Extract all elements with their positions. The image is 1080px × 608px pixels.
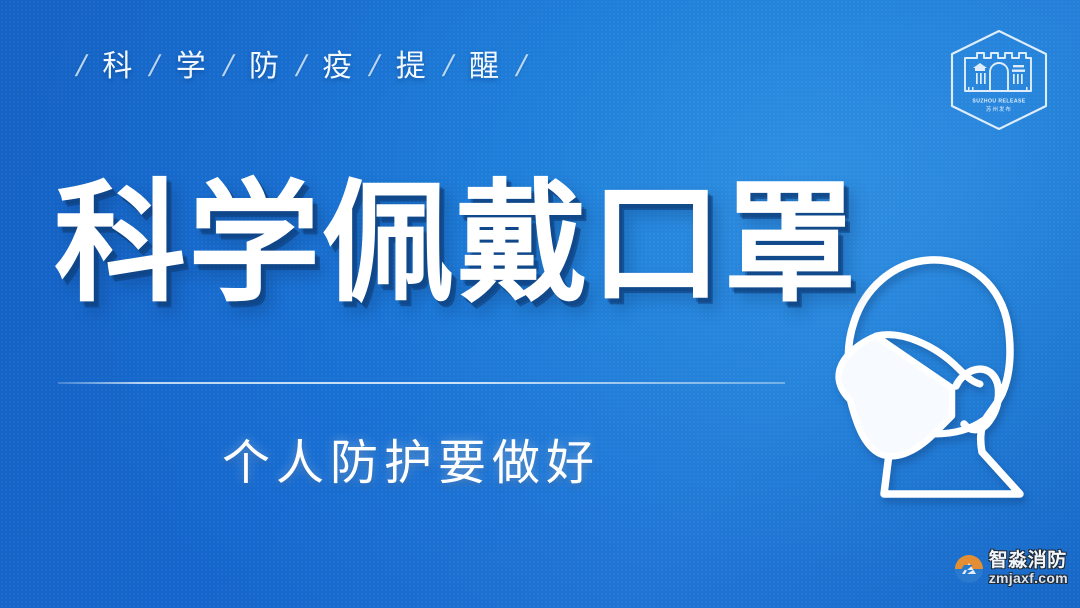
- subtitle: 个人防护要做好: [222, 440, 600, 488]
- kicker-separator-icon: /: [276, 52, 326, 82]
- brand-logo-latin-text: SUZHOU RELEASE: [972, 99, 1025, 105]
- poster-canvas: / 科 / 学 / 防 / 疫 / 提 / 醒 /: [0, 0, 1080, 608]
- divider: [58, 382, 785, 384]
- page-title: 科学佩戴口罩: [54, 178, 858, 310]
- kicker-separator-icon: /: [130, 52, 180, 82]
- zhimiao-fire-safety-logo: [954, 554, 984, 584]
- kicker-separator-icon: /: [350, 52, 400, 82]
- face-mask-path: [839, 336, 952, 456]
- kicker-tagline: / 科 / 学 / 防 / 疫 / 提 / 醒 /: [60, 52, 542, 82]
- kicker-char-3: 防: [249, 52, 280, 82]
- suzhou-release-hex-logo: SUZHOU RELEASE 苏州发布: [946, 28, 1052, 132]
- kicker-separator-icon: /: [496, 52, 546, 82]
- kicker-char-1: 科: [102, 52, 133, 82]
- kicker-separator-icon: /: [203, 52, 253, 82]
- kicker-separator-icon: /: [423, 52, 473, 82]
- watermark-text-block: 智淼消防 zmjaxf.com: [989, 551, 1068, 586]
- watermark-brand: 智淼消防: [989, 551, 1068, 571]
- kicker-separator-icon: /: [56, 52, 106, 82]
- kicker-char-4: 疫: [322, 52, 353, 82]
- brand-logo-chinese-text: 苏州发布: [986, 105, 1012, 113]
- kicker-char-6: 醒: [469, 52, 500, 82]
- kicker-char-5: 提: [396, 52, 427, 82]
- watermark: 智淼消防 zmjaxf.com: [954, 551, 1068, 586]
- watermark-url: zmjaxf.com: [989, 571, 1068, 586]
- kicker-char-2: 学: [176, 52, 207, 82]
